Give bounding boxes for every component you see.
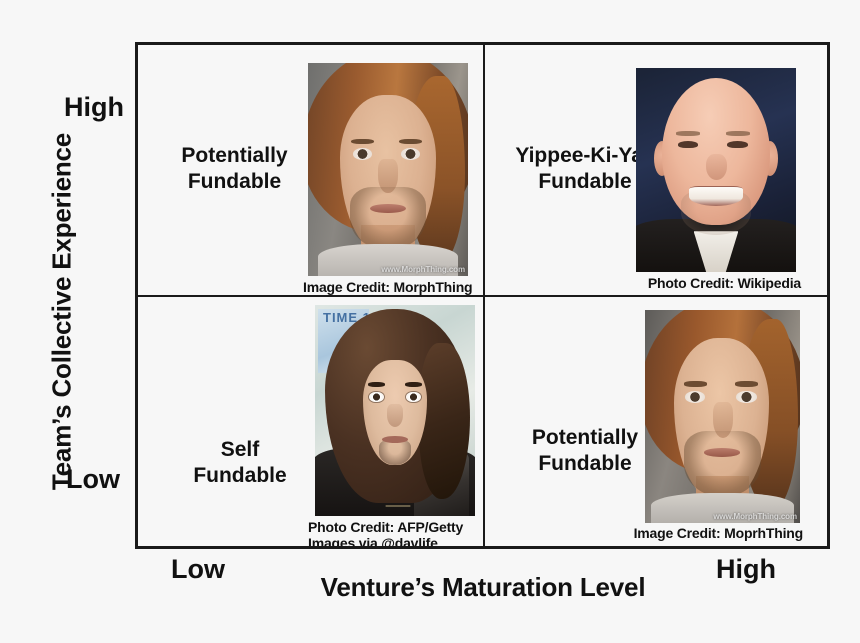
quadrant-bottom-left-credit: Photo Credit: AFP/Getty Images via @davl… (308, 519, 483, 546)
quadrant-bottom-right-photo: www.MorphThing.com (645, 310, 800, 523)
quadrant-bottom-left-photo: TIME 10 (315, 305, 475, 516)
quadrant-top-left-photo: www.MorphThing.com (308, 63, 468, 276)
quadrant-bottom-right: Potentially Fundable ww (485, 297, 827, 546)
quadrant-bottom-left: Self Fundable TIME 10 (138, 297, 483, 546)
quadrant-top-right: Yippee-Ki-Yay Fundable (485, 45, 827, 295)
photo-watermark: www.MorphThing.com (381, 265, 465, 274)
curly-haired-man-portrait: TIME 10 (315, 305, 475, 516)
quadrant-matrix: Potentially Fundable ww (135, 42, 830, 549)
quadrant-bottom-right-credit: Image Credit: MoprhThing (625, 525, 803, 541)
fundability-matrix-figure: Team’s Collective Experience High Low Lo… (0, 0, 860, 643)
y-axis-high-label: High (64, 92, 124, 123)
bald-smiling-man-portrait (636, 68, 796, 272)
morph-face-portrait-b (645, 310, 800, 523)
y-axis-low-label: Low (66, 464, 120, 495)
quadrant-top-left-credit: Image Credit: MorphThing (303, 279, 481, 295)
quadrant-top-left-label: Potentially Fundable (152, 143, 317, 196)
quadrant-top-right-credit: Photo Credit: Wikipedia (615, 275, 801, 291)
quadrant-top-right-photo (636, 68, 796, 272)
photo-watermark: www.MorphThing.com (713, 512, 797, 521)
quadrant-top-left: Potentially Fundable ww (138, 45, 483, 295)
x-axis-title: Venture’s Maturation Level (135, 572, 831, 603)
morph-face-portrait-a (308, 63, 468, 276)
quadrant-bottom-left-label: Self Fundable (160, 437, 320, 490)
